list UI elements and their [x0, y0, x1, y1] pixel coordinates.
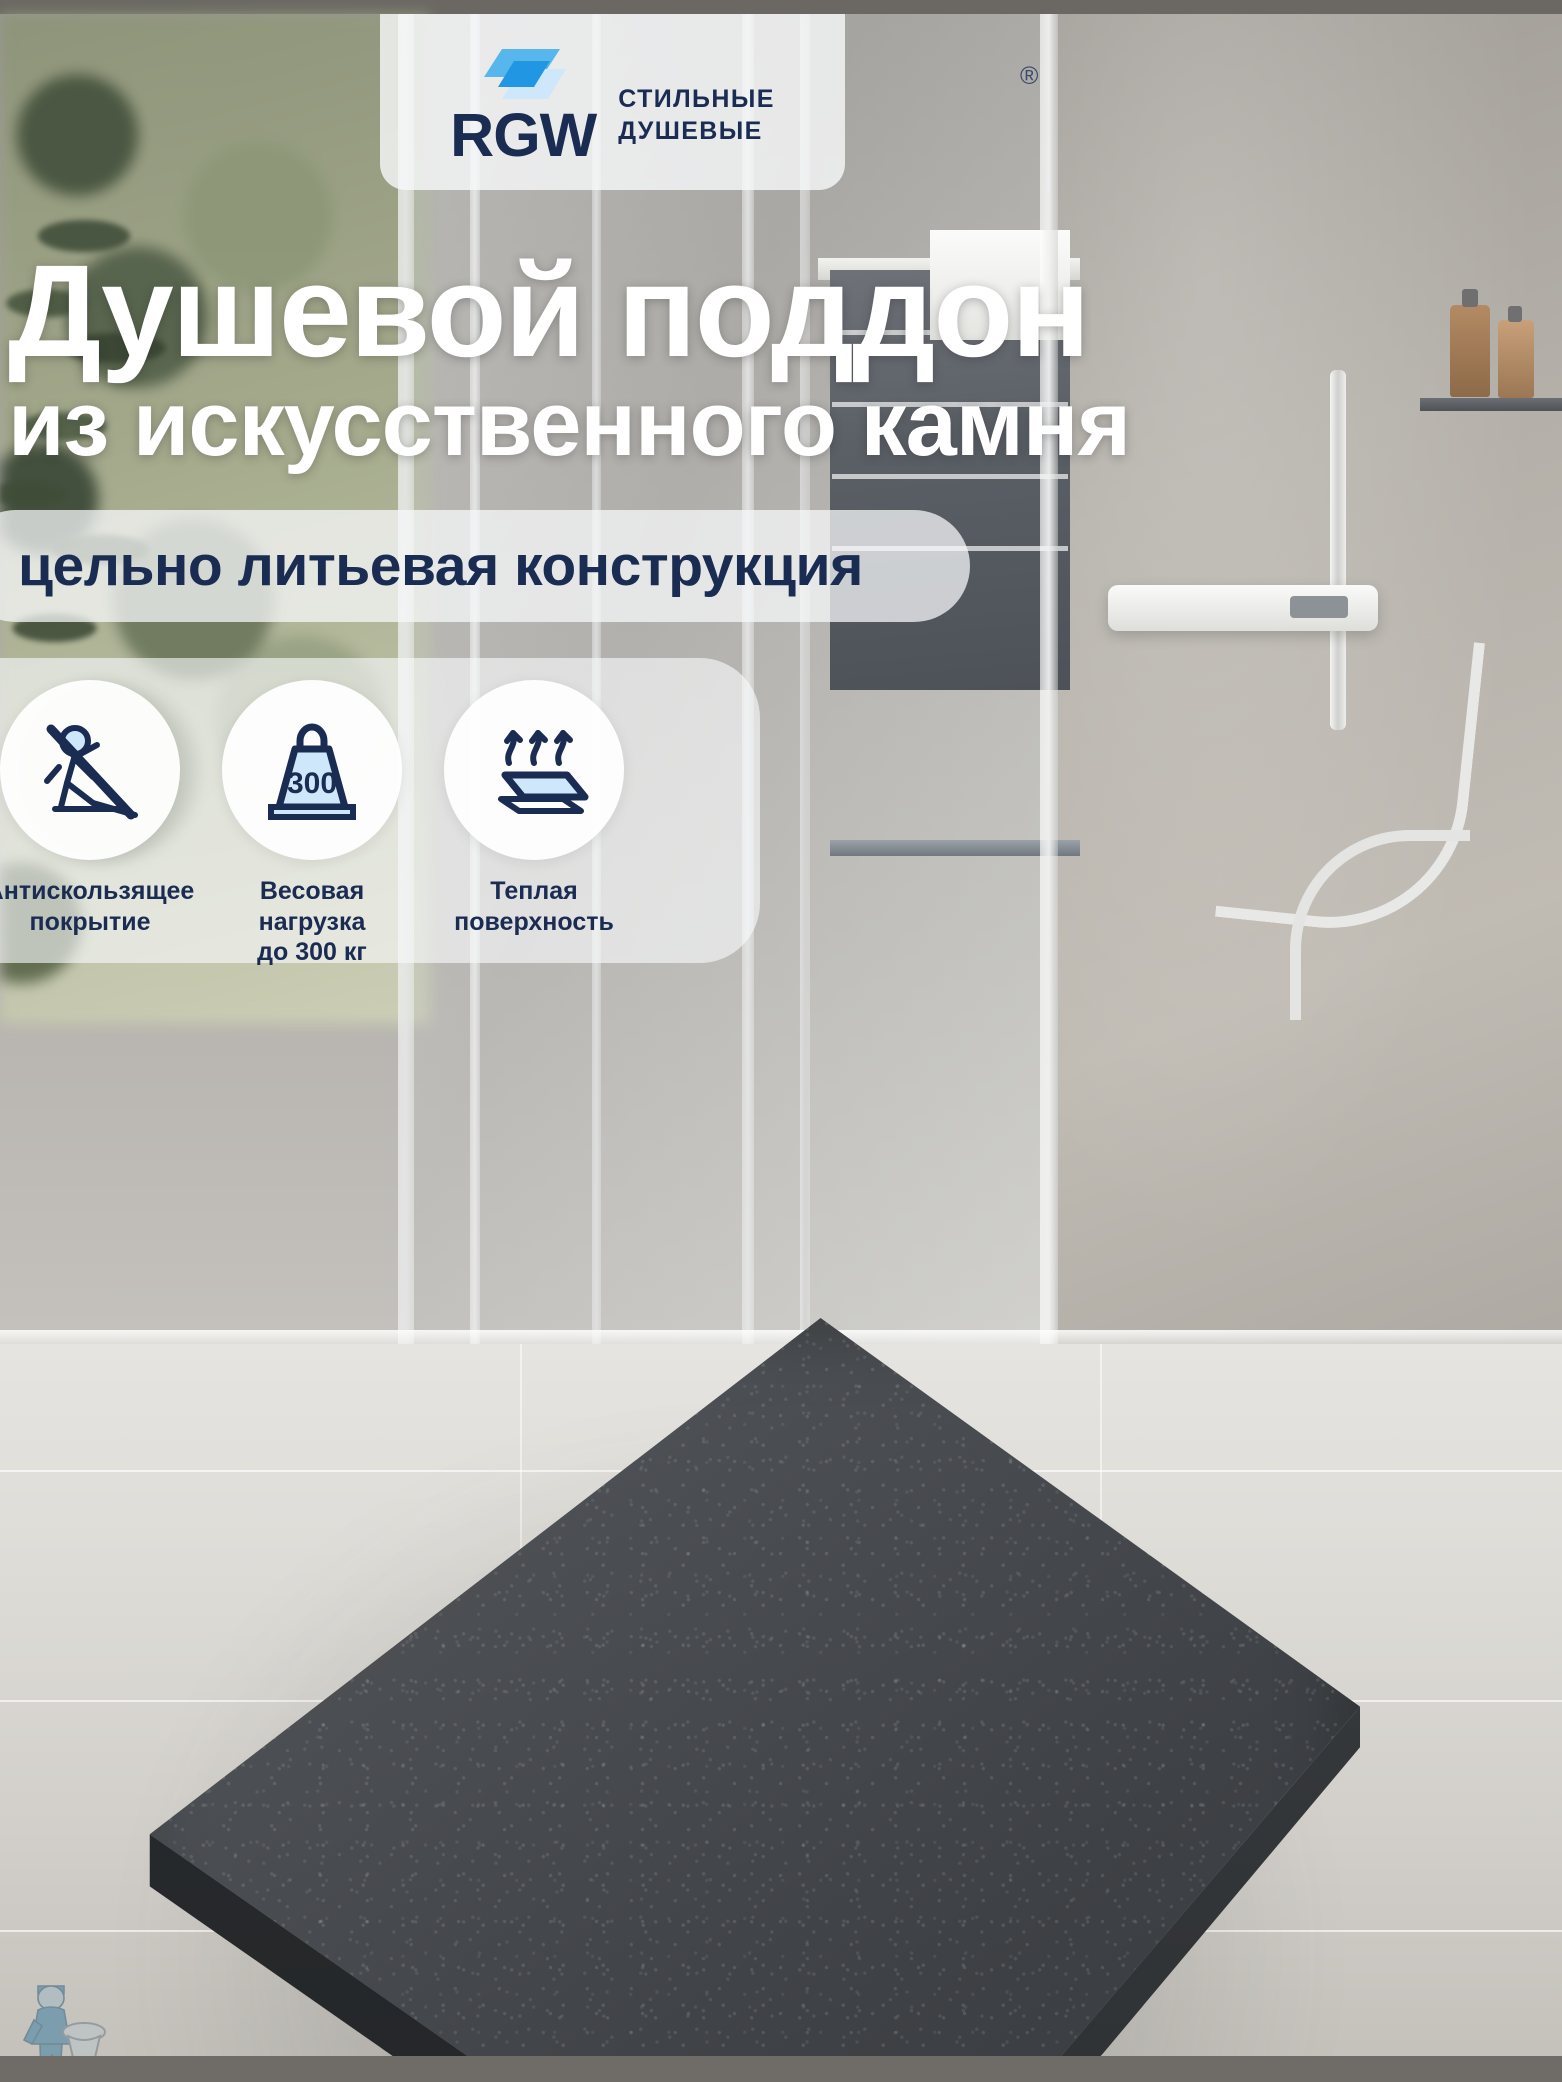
bottom-edge-strip: [0, 2056, 1562, 2082]
glass-mullion: [800, 14, 810, 1354]
feature-label: Весовая нагрузка до 300 кг: [222, 876, 402, 968]
feature-anti-slip: Антискользящее покрытие: [0, 680, 180, 968]
brand-tagline: СТИЛЬНЫЕ ДУШЕВЫЕ: [618, 65, 775, 147]
shower-head-shelf: [1108, 585, 1378, 631]
tagline-line-2: ДУШЕВЫЕ: [618, 115, 775, 147]
top-edge-strip: [0, 0, 1562, 14]
feature-label: Теплая поверхность: [454, 876, 614, 937]
anti-slip-person-icon: [31, 711, 149, 829]
registered-trademark-icon: ®: [1020, 62, 1038, 91]
brand-logo-card: RGW СТИЛЬНЫЕ ДУШЕВЫЕ ®: [380, 14, 845, 190]
logo-lockup: RGW: [450, 47, 596, 166]
shower-tray-product: [120, 1318, 1360, 2082]
rgw-parallelogram-mark: [480, 47, 566, 103]
pill-text: цельно литьевая конструкция: [18, 533, 863, 599]
headline-secondary: из искусственного камня: [8, 378, 1562, 470]
feature-label: Антискользящее покрытие: [0, 876, 194, 937]
weight-300-icon: 300: [253, 711, 371, 829]
feature-weight-load: 300 Весовая нагрузка до 300 кг: [222, 680, 402, 968]
tagline-line-1: СТИЛЬНЫЕ: [618, 83, 775, 115]
promo-banner: RGW СТИЛЬНЫЕ ДУШЕВЫЕ ® Душевой поддон из…: [0, 0, 1562, 2082]
features-row: Антискользящее покрытие 300 Весовая нагр…: [0, 680, 624, 968]
feature-icon-circle: [0, 680, 180, 860]
feature-icon-circle: [444, 680, 624, 860]
logo-wordmark: RGW: [450, 105, 596, 166]
warm-surface-icon: [475, 711, 593, 829]
features-panel: Антискользящее покрытие 300 Весовая нагр…: [0, 658, 760, 963]
glass-mullion: [1040, 14, 1058, 1354]
feature-warm-surface: Теплая поверхность: [444, 680, 624, 968]
weight-value: 300: [287, 767, 337, 800]
feature-icon-circle: 300: [222, 680, 402, 860]
headline-primary: Душевой поддон: [8, 246, 1562, 376]
construction-pill-banner: цельно литьевая конструкция: [0, 510, 970, 622]
